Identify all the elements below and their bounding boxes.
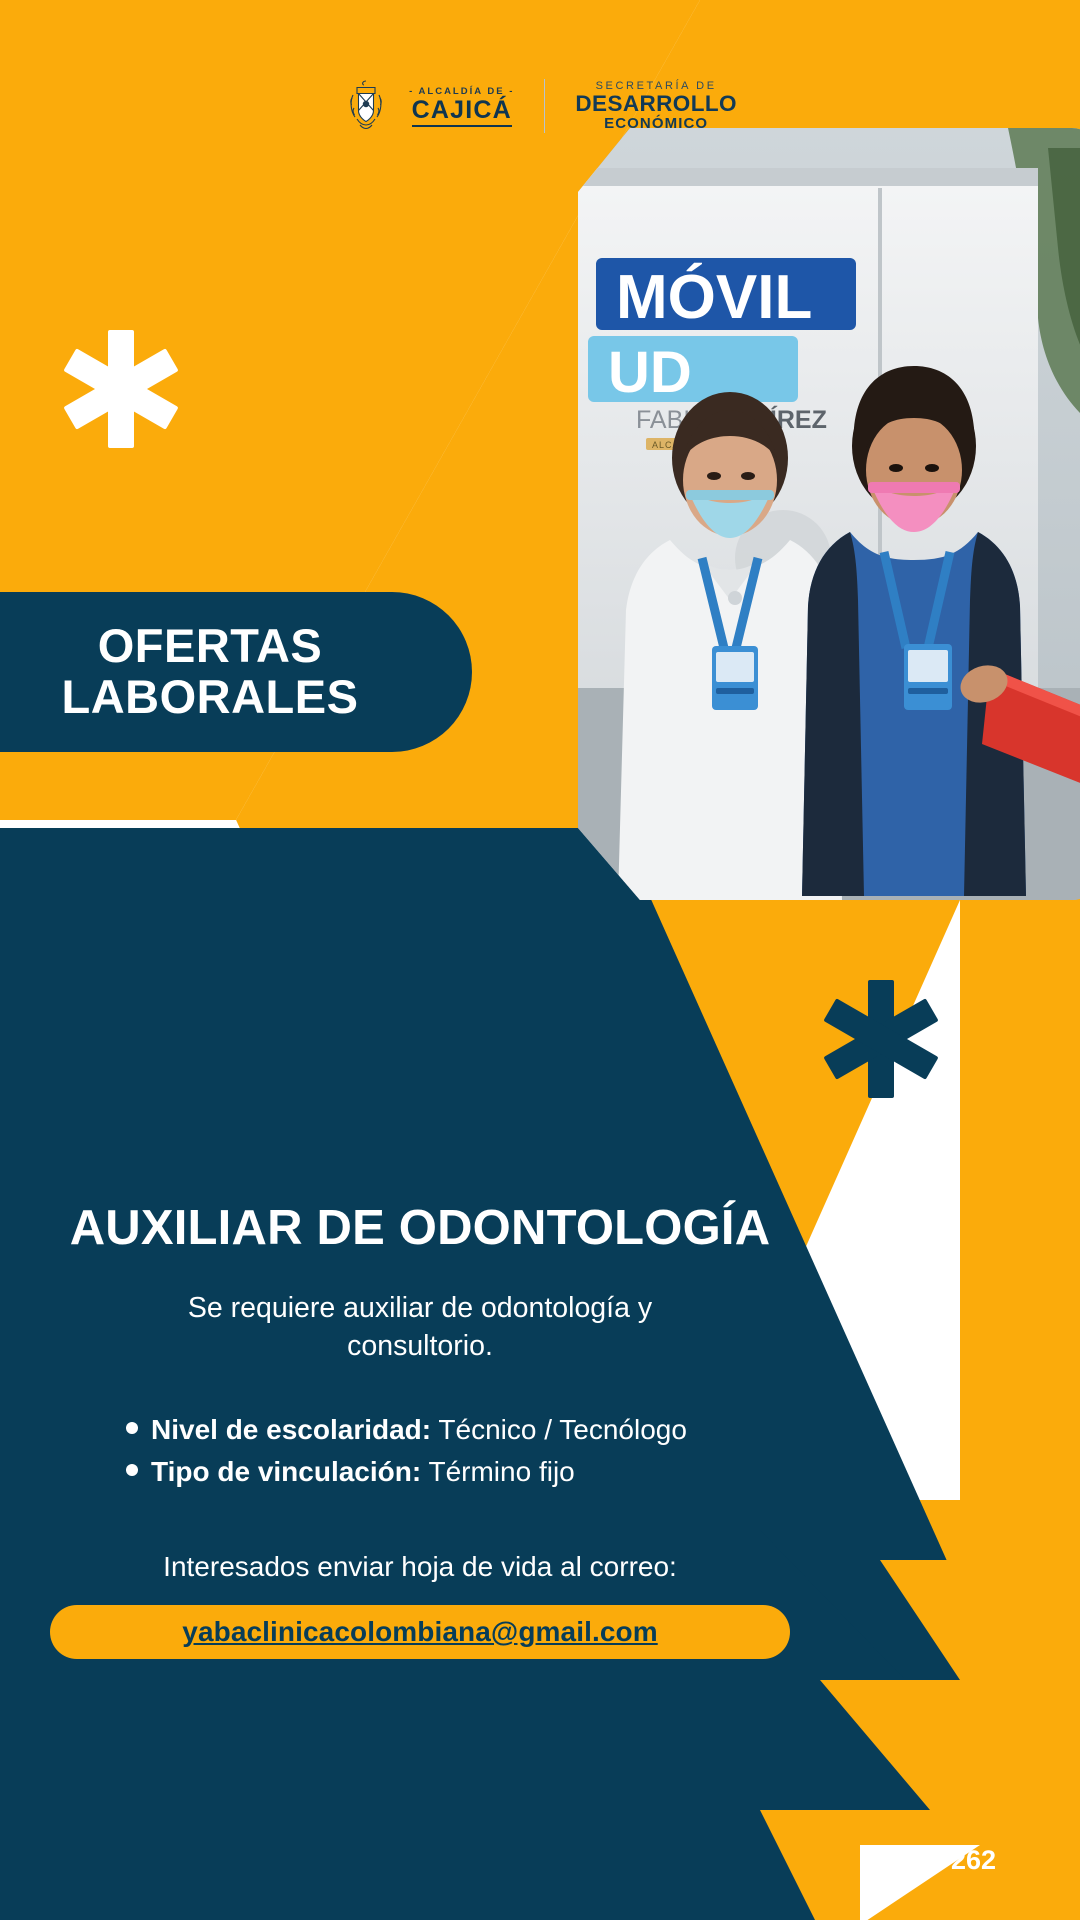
photo-health-workers: MÓVIL UD FABIO RAMÍREZ ALCALDE 2020-2023 bbox=[578, 128, 1080, 900]
requirements-list: Nivel de escolaridad: Técnico / Tecnólog… bbox=[70, 1409, 770, 1493]
list-item: Nivel de escolaridad: Técnico / Tecnólog… bbox=[126, 1409, 770, 1451]
badge-text: OFERTAS LABORALES bbox=[62, 621, 411, 723]
asterisk-icon-navy bbox=[822, 980, 940, 1098]
bullet-dot-icon bbox=[126, 1464, 138, 1476]
svg-text:UD: UD bbox=[608, 340, 692, 405]
secretaria-line1: DESARROLLO bbox=[575, 92, 737, 116]
ofertas-laborales-badge: OFERTAS LABORALES bbox=[0, 592, 472, 752]
cajica-coat-of-arms-icon bbox=[343, 78, 389, 134]
job-offer-poster: - ALCALDÍA DE - CAJICÁ SECRETARÍA DE DES… bbox=[0, 0, 1080, 1920]
alcaldia-name: CAJICÁ bbox=[412, 98, 512, 127]
logo-divider bbox=[544, 79, 545, 133]
bullet-dot-icon bbox=[126, 1422, 138, 1434]
badge-line-1: OFERTAS bbox=[62, 621, 359, 672]
requirement-value: Término fijo bbox=[428, 1456, 574, 1487]
page-title: AUXILIAR DE ODONTOLOGÍA bbox=[0, 1200, 840, 1256]
navy-panel-rounded-top bbox=[0, 828, 640, 898]
svg-text:MÓVIL: MÓVIL bbox=[616, 263, 812, 332]
page-number: 262 bbox=[951, 1845, 996, 1876]
job-content: AUXILIAR DE ODONTOLOGÍA Se requiere auxi… bbox=[0, 1200, 840, 1659]
header-logos: - ALCALDÍA DE - CAJICÁ SECRETARÍA DE DES… bbox=[0, 78, 1080, 134]
badge-line-2: LABORALES bbox=[62, 672, 359, 723]
job-description: Se requiere auxiliar de odontología y co… bbox=[120, 1290, 720, 1365]
alcaldia-superior-text: - ALCALDÍA DE - bbox=[409, 86, 514, 97]
secretaria-logo: SECRETARÍA DE DESARROLLO ECONÓMICO bbox=[575, 80, 737, 132]
secretaria-line2: ECONÓMICO bbox=[604, 116, 708, 133]
requirement-value: Técnico / Tecnólogo bbox=[438, 1414, 687, 1445]
requirement-label: Nivel de escolaridad: bbox=[151, 1414, 431, 1445]
requirement-label: Tipo de vinculación: bbox=[151, 1456, 421, 1487]
email-pill[interactable]: yabaclinicacolombiana@gmail.com bbox=[50, 1605, 790, 1659]
alcaldia-logo: - ALCALDÍA DE - CAJICÁ bbox=[409, 86, 514, 127]
asterisk-icon-white bbox=[62, 330, 180, 448]
list-item: Tipo de vinculación: Término fijo bbox=[126, 1451, 770, 1493]
photo-illustration: MÓVIL UD FABIO RAMÍREZ ALCALDE 2020-2023 bbox=[578, 128, 1080, 900]
cta-instruction: Interesados enviar hoja de vida al corre… bbox=[70, 1551, 770, 1583]
contact-email[interactable]: yabaclinicacolombiana@gmail.com bbox=[182, 1616, 657, 1648]
